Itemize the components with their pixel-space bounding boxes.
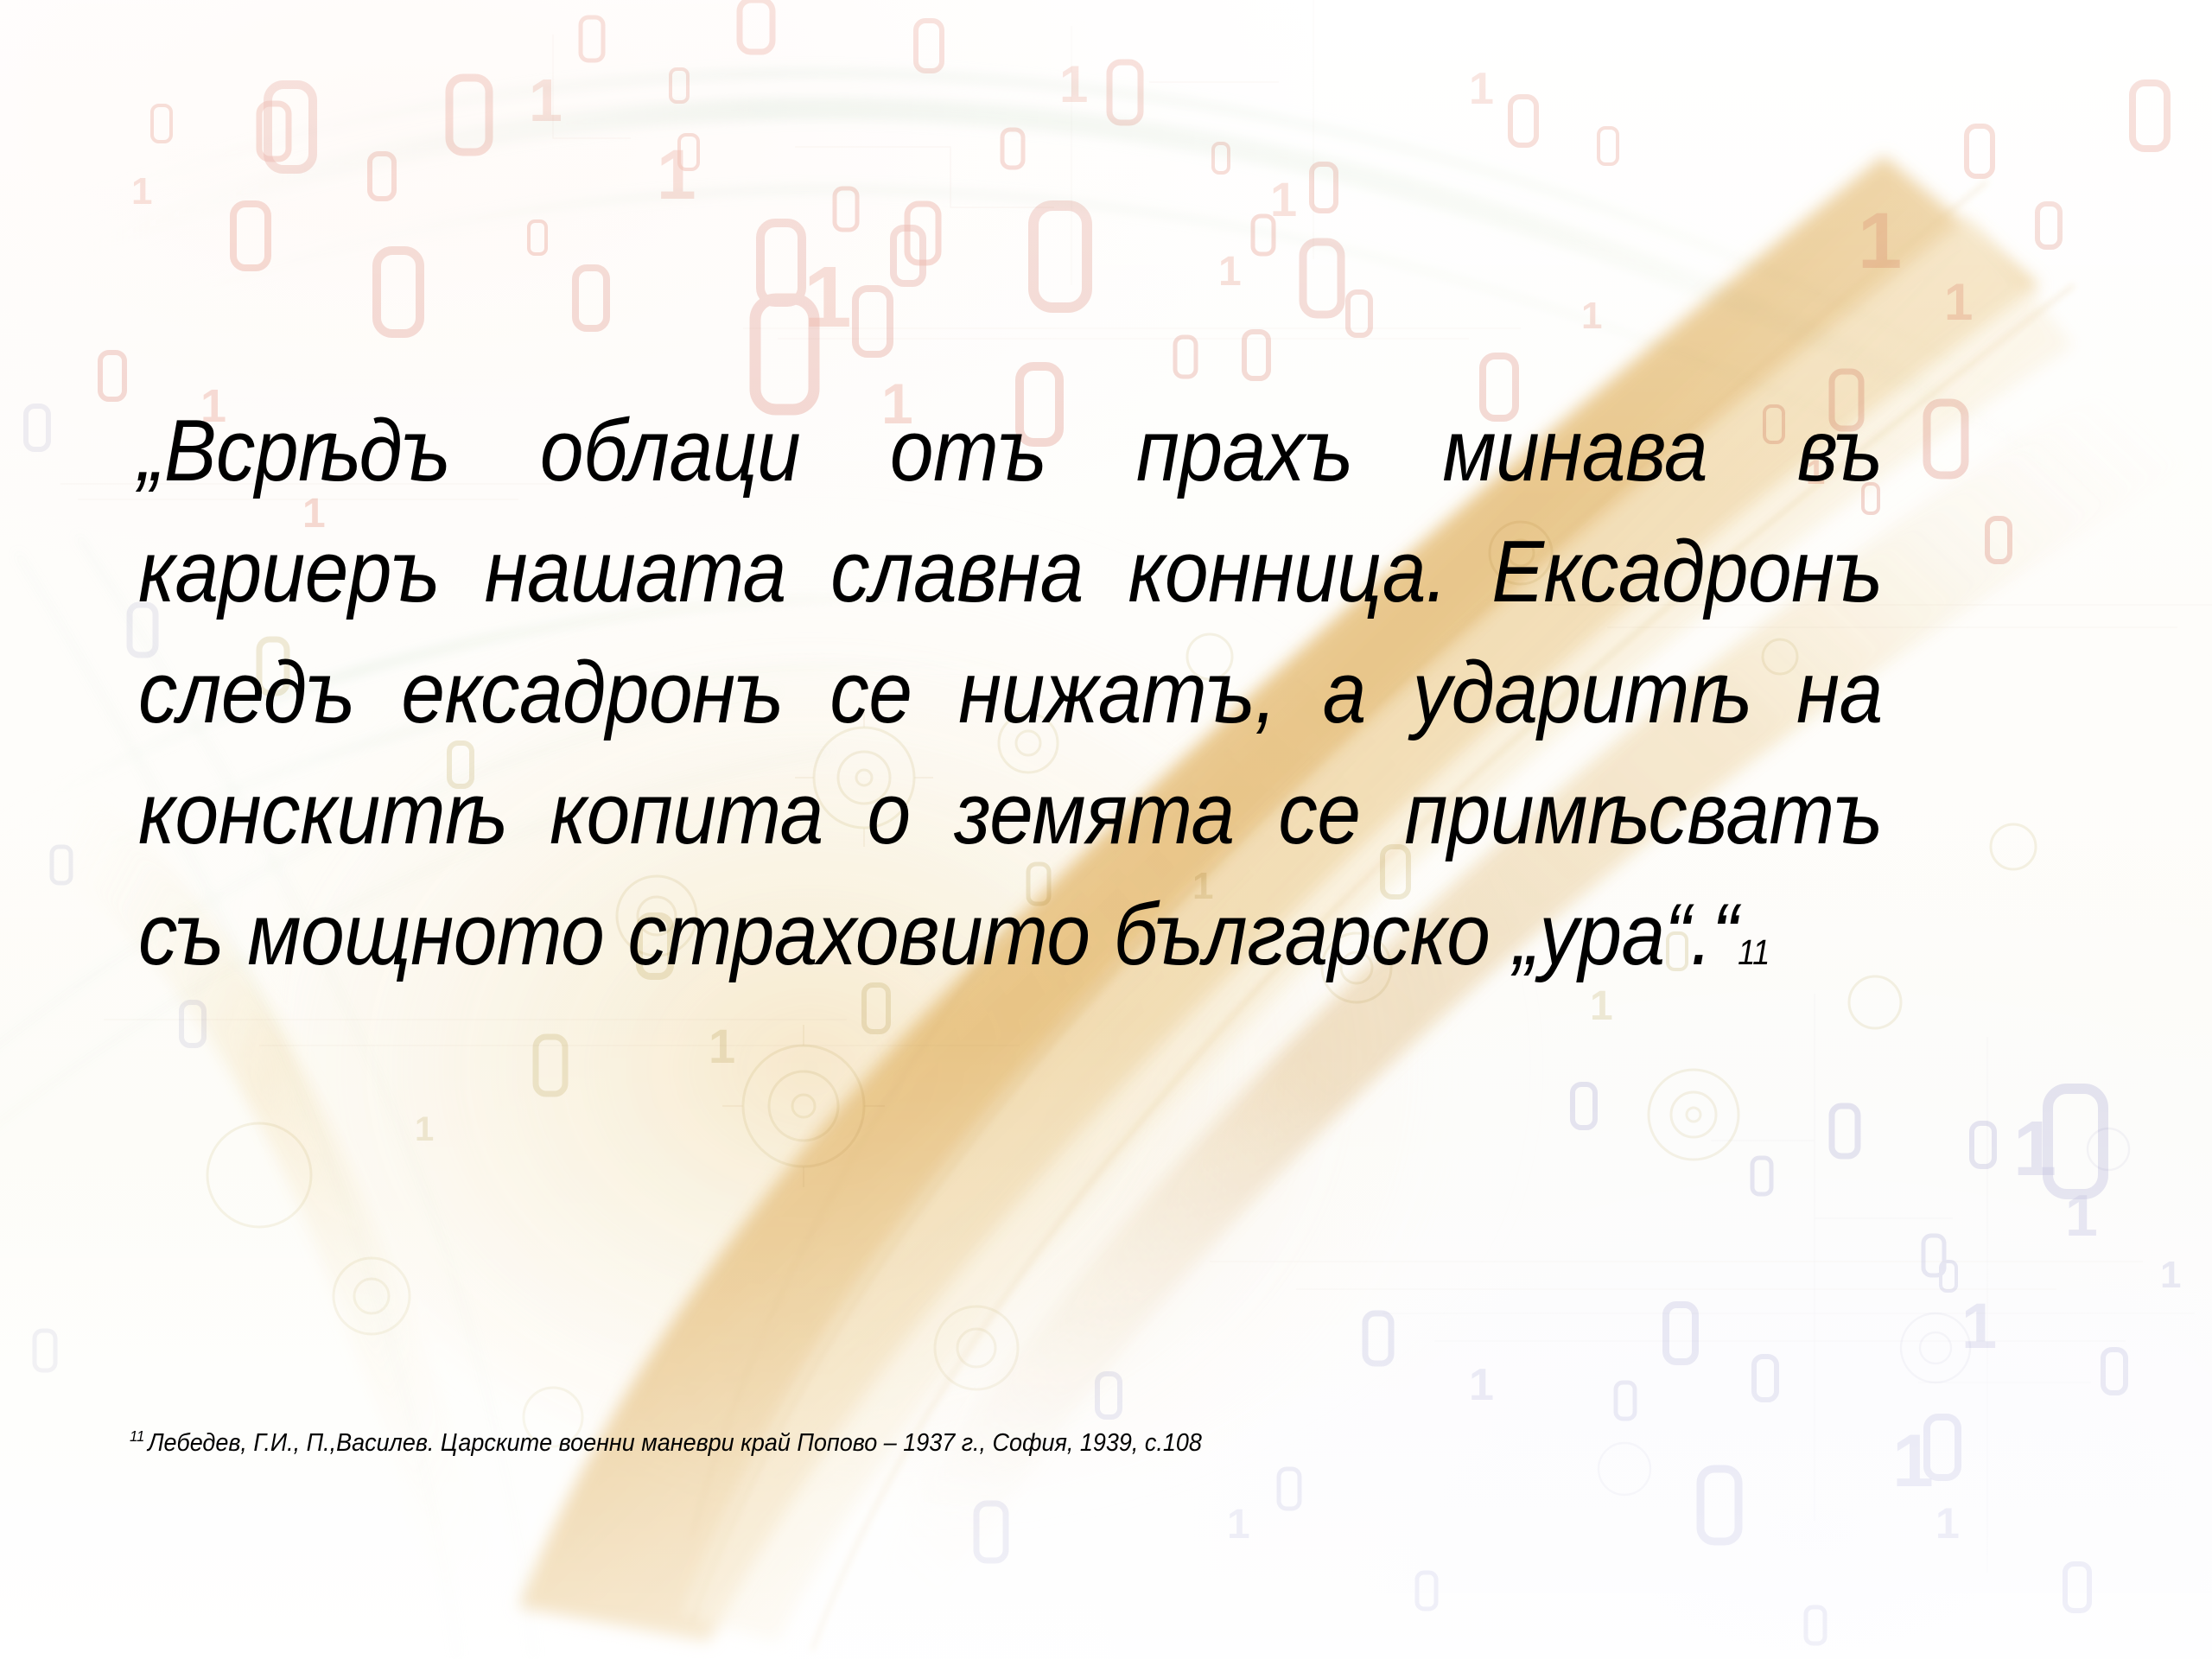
quote-word: страховито [627, 874, 1090, 995]
slide-content: „Всрѣдъ облаци отъ прахъ минава въ карие… [0, 0, 2212, 1659]
quote-word: славна [830, 512, 1084, 632]
quote-word: облаци [540, 391, 800, 512]
quote-word: се [1278, 753, 1360, 874]
quote-word: ударитѣ [1413, 632, 1751, 753]
slide-canvas: 1 1 1 1 1 1 1 1 1 1 1 1 1 1 1 [0, 0, 2212, 1659]
quote-word: „ура“.“ [1514, 874, 1738, 995]
footnote-text: Лебедев, Г.И., П.,Василев. Царските воен… [148, 1429, 1202, 1457]
quote-word: нижатъ, [958, 632, 1276, 753]
quote-word: се [829, 632, 912, 753]
quote-word: прахъ [1136, 391, 1353, 512]
quote-word: минава [1442, 391, 1707, 512]
quote-word: примѣсватъ [1404, 753, 1882, 874]
quote-word: следъ [138, 632, 355, 753]
quote-word: земята [954, 753, 1234, 874]
quote-word: нашата [485, 512, 786, 632]
quote-word: българско [1114, 874, 1491, 995]
quote-word: о [868, 753, 911, 874]
quote-word: на [1796, 632, 1883, 753]
quote-word: въ [1797, 391, 1883, 512]
quote-word: копита [550, 753, 823, 874]
quote-word: Ексадронъ [1491, 512, 1882, 632]
quote-line-3: следъ ексадронъ се нижатъ, а ударитѣ на [138, 632, 1883, 753]
quote-line-5: съ мощното страховито българско „ура“.“1… [138, 874, 1883, 995]
quote-line-1: „Всрѣдъ облаци отъ прахъ минава въ [138, 391, 1883, 512]
quote-word: конскитѣ [138, 753, 505, 874]
footnote: 11Лебедев, Г.И., П.,Василев. Царските во… [130, 1426, 1202, 1460]
quote-word: „Всрѣдъ [138, 391, 450, 512]
quote-word: конница. [1128, 512, 1446, 632]
quote-word: а [1323, 632, 1366, 753]
quote-word: ексадронъ [401, 632, 783, 753]
quote-block: „Всрѣдъ облаци отъ прахъ минава въ карие… [138, 391, 2076, 995]
quote-line-2: кариеръ нашата славна конница. Ексадронъ [138, 512, 1883, 632]
quote-word: кариеръ [138, 512, 440, 632]
quote-word: мощното [247, 874, 604, 995]
quote-line-4: конскитѣ копита о земята се примѣсватъ [138, 753, 1883, 874]
quote-word: отъ [890, 391, 1046, 512]
quote-word: съ [138, 874, 224, 995]
footnote-marker: 11 [130, 1427, 144, 1445]
